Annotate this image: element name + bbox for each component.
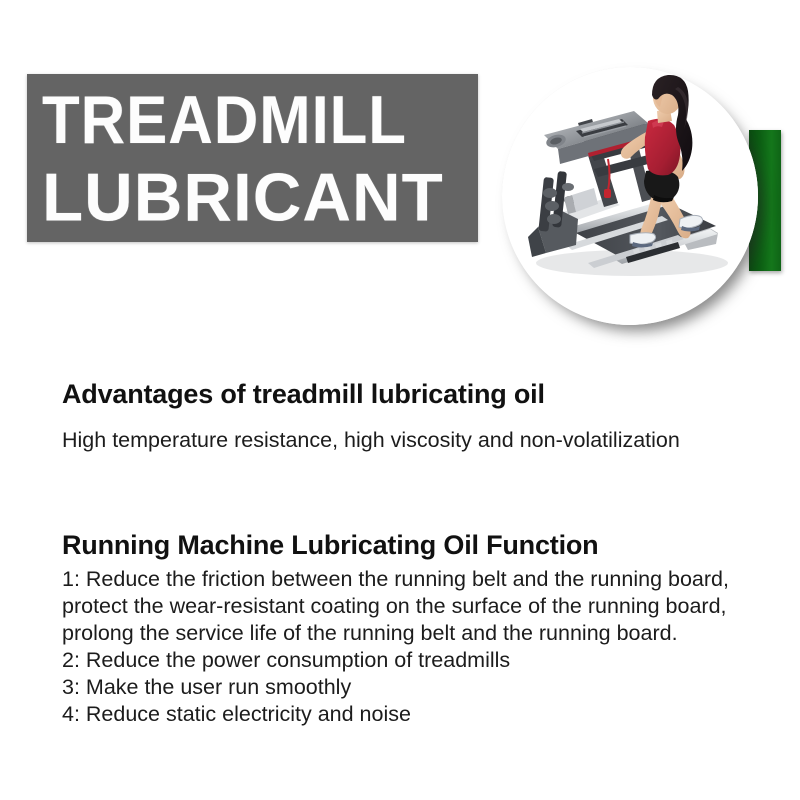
list-item: 3: Make the user run smoothly (62, 674, 729, 701)
function-heading: Running Machine Lubricating Oil Function (62, 529, 729, 562)
treadmill-photo-circle (502, 67, 758, 325)
title-plate: TREADMILL LUBRICANT (27, 74, 478, 242)
product-infographic: TREADMILL LUBRICANT (0, 0, 800, 800)
product-title-line-2: LUBRICANT (42, 157, 487, 237)
woman-running-on-treadmill-illustration (502, 67, 758, 325)
product-title-line-1: TREADMILL (42, 73, 450, 160)
advantages-section: Advantages of treadmill lubricating oil … (62, 378, 680, 454)
function-list: 1: Reduce the friction between the runni… (62, 562, 729, 728)
list-item: prolong the service life of the running … (62, 620, 729, 647)
advantages-heading: Advantages of treadmill lubricating oil (62, 378, 680, 411)
list-item: 4: Reduce static electricity and noise (62, 701, 729, 728)
list-item: protect the wear-resistant coating on th… (62, 593, 729, 620)
function-section: Running Machine Lubricating Oil Function… (62, 529, 729, 728)
advantages-subtitle: High temperature resistance, high viscos… (62, 411, 680, 454)
list-item: 2: Reduce the power consumption of tread… (62, 647, 729, 674)
list-item: 1: Reduce the friction between the runni… (62, 566, 729, 593)
hero-banner: TREADMILL LUBRICANT (0, 0, 800, 350)
